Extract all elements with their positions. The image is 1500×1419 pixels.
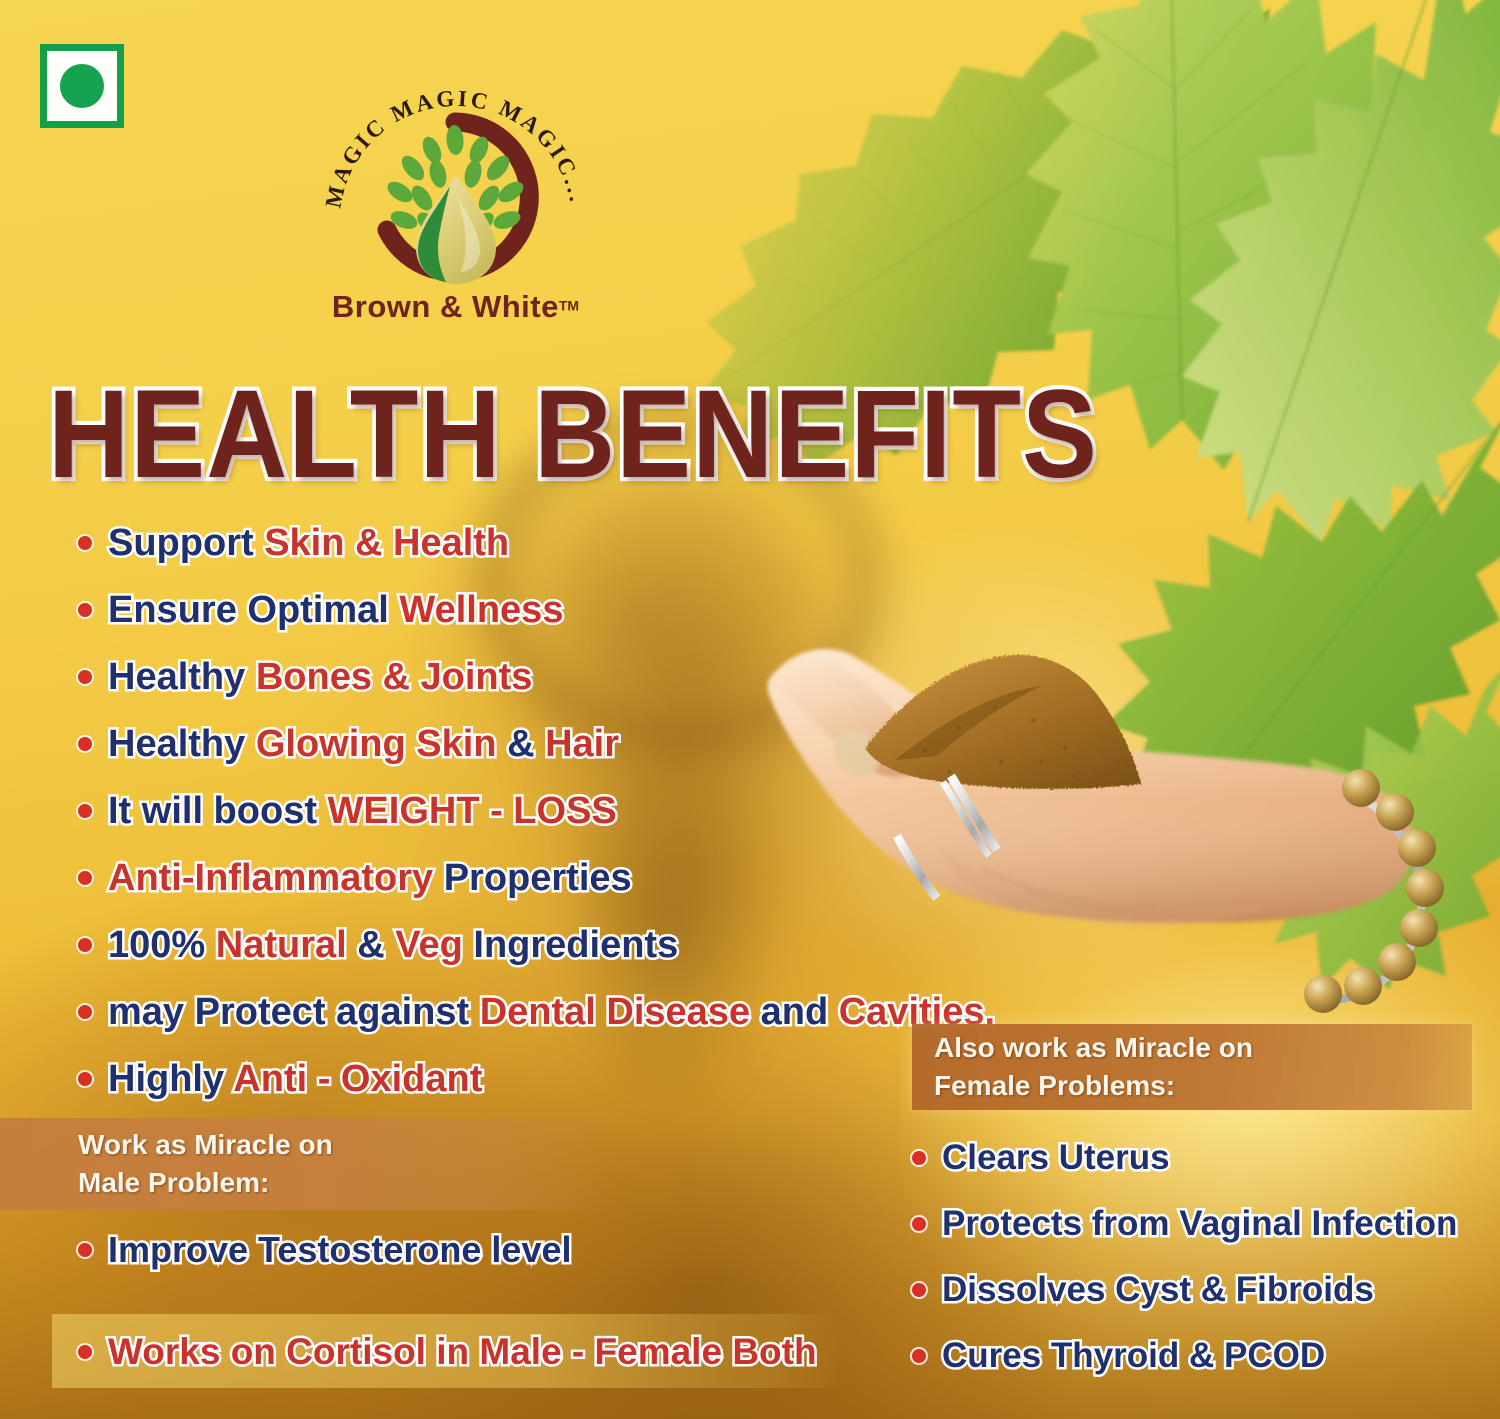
- male-section-heading: Work as Miracle on Male Problem:: [0, 1118, 620, 1210]
- bullet-dot: [78, 1005, 92, 1019]
- text-segment: Wellness: [399, 589, 563, 631]
- main-benefits-list: Support Skin & HealthEnsure Optimal Well…: [72, 524, 995, 1127]
- female-section-heading: Also work as Miracle on Female Problems:: [912, 1024, 1472, 1110]
- benefit-item: Support Skin & Health: [72, 524, 995, 562]
- benefit-item: Healthy Bones & Joints: [72, 658, 995, 696]
- health-benefits-poster: MAGIC MAGIC MAGIC...: [0, 0, 1500, 1419]
- trademark-symbol: TM: [559, 298, 579, 314]
- text-segment: It will boost: [108, 790, 328, 832]
- male-benefit-item: Improve Testosterone level: [72, 1232, 572, 1268]
- text-segment: Anti - Oxidant: [233, 1058, 482, 1100]
- female-benefit-item: Protects from Vaginal Infection: [906, 1206, 1457, 1241]
- benefit-item: Ensure Optimal Wellness: [72, 591, 995, 629]
- brand-logo: MAGIC MAGIC MAGIC...: [318, 78, 593, 313]
- female-heading-line-2: Female Problems:: [934, 1067, 1472, 1105]
- text-segment: 100%: [108, 924, 216, 966]
- text-segment: Anti-Inflammatory: [108, 857, 444, 899]
- text-segment: Skin & Health: [264, 522, 509, 564]
- text-segment: and: [761, 991, 839, 1033]
- text-segment: Natural: [216, 924, 357, 966]
- veg-mark-dot: [60, 64, 104, 108]
- benefit-item: 100% Natural & Veg Ingredients: [72, 926, 995, 964]
- text-segment: Hair: [545, 723, 619, 765]
- bullet-dot: [912, 1217, 926, 1231]
- bullet-dot: [78, 670, 92, 684]
- text-segment: &: [357, 924, 395, 966]
- bullet-dot: [78, 1345, 92, 1359]
- text-segment: Bones & Joints: [256, 656, 533, 698]
- text-segment: Dissolves Cyst & Fibroids: [942, 1270, 1374, 1309]
- text-segment: Support: [108, 522, 264, 564]
- benefit-item: may Protect against Dental Disease and C…: [72, 993, 995, 1031]
- benefit-item: Anti-Inflammatory Properties: [72, 859, 995, 897]
- text-segment: Glowing Skin: [256, 723, 507, 765]
- male-heading-line-2: Male Problem:: [78, 1164, 620, 1202]
- bullet-dot: [78, 1243, 92, 1257]
- female-benefit-item: Clears Uterus: [906, 1140, 1457, 1175]
- text-segment: Clears Uterus: [942, 1138, 1170, 1177]
- female-heading-line-1: Also work as Miracle on: [934, 1029, 1472, 1067]
- male-benefits-list: Improve Testosterone level: [72, 1232, 572, 1296]
- veg-mark-icon: [40, 44, 124, 128]
- text-segment: Healthy: [108, 723, 256, 765]
- female-benefits-list: Clears UterusProtects from Vaginal Infec…: [906, 1140, 1457, 1404]
- text-segment: Healthy: [108, 656, 256, 698]
- text-segment: Highly: [108, 1058, 233, 1100]
- bullet-dot: [78, 603, 92, 617]
- brand-name: Brown & White: [332, 289, 559, 324]
- benefit-item: It will boost WEIGHT - LOSS: [72, 792, 995, 830]
- female-benefit-item: Dissolves Cyst & Fibroids: [906, 1272, 1457, 1307]
- bullet-dot: [78, 871, 92, 885]
- text-segment: Veg: [395, 924, 473, 966]
- text-segment: Improve Testosterone level: [108, 1229, 572, 1270]
- bullet-dot: [78, 804, 92, 818]
- bullet-dot: [78, 1072, 92, 1086]
- bullet-dot: [912, 1283, 926, 1297]
- text-segment: Dental Disease: [480, 991, 761, 1033]
- cortisol-highlight-text: Works on Cortisol in Male - Female Both: [72, 1333, 817, 1370]
- bullet-dot: [78, 536, 92, 550]
- male-heading-line-1: Work as Miracle on: [78, 1126, 620, 1164]
- text-segment: &: [507, 723, 545, 765]
- bullet-dot: [912, 1349, 926, 1363]
- text-segment: Protects from Vaginal Infection: [942, 1204, 1457, 1243]
- bullet-dot: [78, 737, 92, 751]
- text-segment: Properties: [444, 857, 632, 899]
- text-segment: Ingredients: [473, 924, 678, 966]
- bullet-dot: [912, 1151, 926, 1165]
- bullet-dot: [78, 938, 92, 952]
- text-segment: may Protect against: [108, 991, 480, 1033]
- female-benefit-item: Cures Thyroid & PCOD: [906, 1338, 1457, 1373]
- page-title: HEALTH BENEFITS: [48, 372, 1098, 497]
- text-segment: WEIGHT - LOSS: [328, 790, 617, 832]
- text-segment: Works on Cortisol in Male - Female Both: [108, 1331, 817, 1372]
- text-segment: Cures Thyroid & PCOD: [942, 1336, 1325, 1375]
- text-segment: Ensure Optimal: [108, 589, 399, 631]
- benefit-item: Highly Anti - Oxidant: [72, 1060, 995, 1098]
- benefit-item: Healthy Glowing Skin & Hair: [72, 725, 995, 763]
